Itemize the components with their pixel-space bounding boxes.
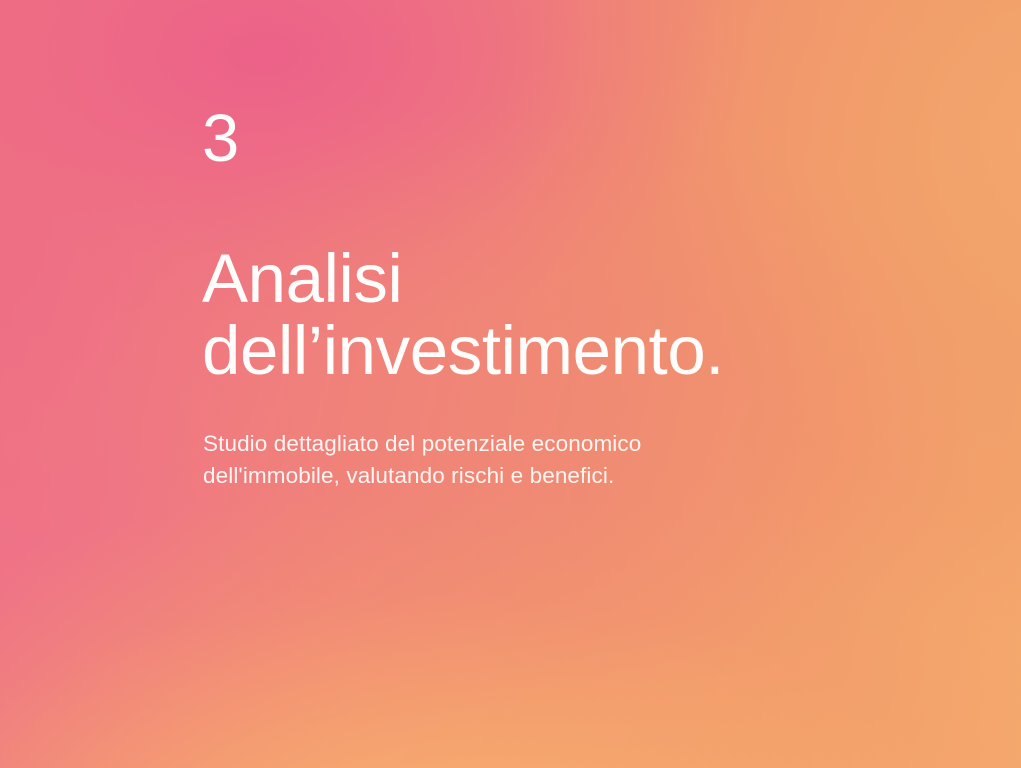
slide-content: 3 Analisi dell’investimento. Studio dett… — [202, 0, 962, 768]
presentation-slide: 3 Analisi dell’investimento. Studio dett… — [0, 0, 1021, 768]
slide-title: Analisi dell’investimento. — [202, 243, 724, 387]
slide-subtitle: Studio dettagliato del potenziale econom… — [203, 428, 641, 492]
section-number: 3 — [202, 105, 239, 172]
